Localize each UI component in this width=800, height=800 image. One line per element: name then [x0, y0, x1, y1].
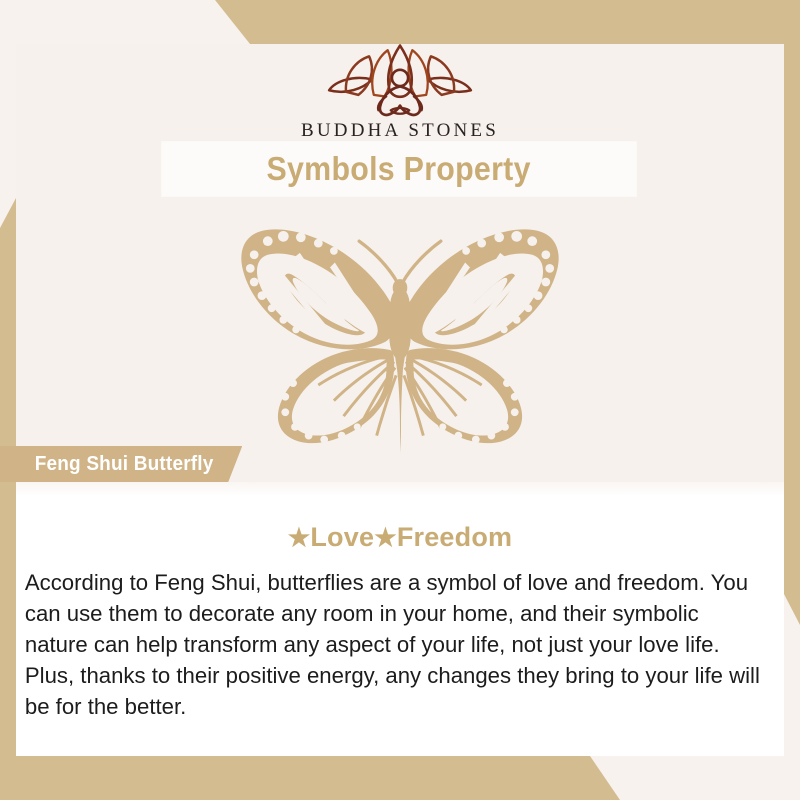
- star-left-icon: ★: [288, 524, 311, 552]
- lotus-meditation-icon: [315, 44, 485, 118]
- star-middle-icon: ★: [374, 524, 397, 552]
- title-banner: Symbols Property: [162, 142, 636, 196]
- content-headline: ★Love★Freedom: [16, 482, 784, 553]
- headline-word-freedom: Freedom: [397, 522, 512, 552]
- page-title: Symbols Property: [267, 150, 531, 188]
- frame-band-left: [0, 198, 16, 772]
- brand-block: BUDDHA STONES: [16, 44, 784, 144]
- butterfly-icon: [225, 212, 575, 457]
- feng-shui-label: Feng Shui Butterfly: [0, 446, 242, 482]
- poster-stage: BUDDHA STONES Symbols Property: [16, 44, 784, 756]
- frame-band-right: [784, 0, 800, 625]
- poster-canvas: BUDDHA STONES Symbols Property: [0, 0, 800, 800]
- content-paragraph: According to Feng Shui, butterflies are …: [16, 553, 772, 722]
- feng-shui-label-text: Feng Shui Butterfly: [35, 453, 214, 476]
- headline-word-love: Love: [310, 522, 374, 552]
- brand-name: BUDDHA STONES: [301, 120, 499, 142]
- content-card: ★Love★Freedom According to Feng Shui, bu…: [16, 482, 784, 756]
- frame-band-top: [0, 0, 800, 44]
- frame-band-bottom: [0, 756, 800, 800]
- hero-image-wrap: [16, 209, 784, 459]
